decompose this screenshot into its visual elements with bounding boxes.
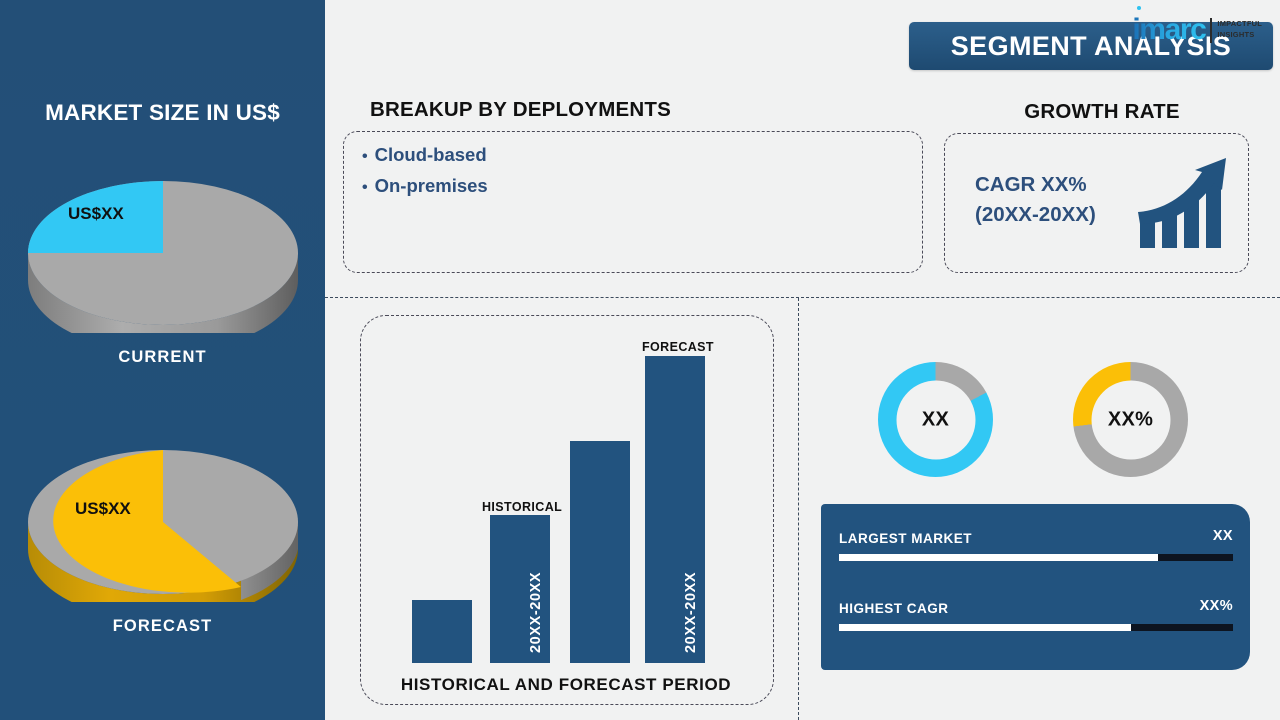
pie-slice-value (28, 181, 163, 253)
deployments-heading: BREAKUP BY DEPLOYMENTS (370, 98, 671, 122)
growth-arrow-bars-icon (1138, 156, 1234, 257)
logo-dot-icon (1137, 6, 1141, 10)
largest-market-donut: XX (878, 362, 993, 477)
header-band: SEGMENT ANALYSIS imarc IMPACTFUL INSIGHT… (325, 0, 1280, 92)
market-size-panel: MARKET SIZE IN US$ US$X (0, 0, 325, 720)
cagr-line-1: CAGR XX% (975, 170, 1096, 200)
market-size-title: MARKET SIZE IN US$ (0, 100, 325, 126)
cagr-line-2: (20XX-20XX) (975, 200, 1096, 230)
imarc-logo: imarc IMPACTFUL INSIGHTS (1132, 12, 1262, 48)
list-item: • On-premises (362, 171, 488, 202)
stat-row-largest-market: LARGEST MARKET XX (839, 530, 1233, 561)
bar-3 (570, 441, 630, 663)
highest-cagr-donut: XX% (1073, 362, 1188, 477)
current-pie-caption: CURRENT (0, 348, 325, 367)
list-item-label: On-premises (375, 171, 488, 200)
logo-tagline-line1: IMPACTFUL (1217, 19, 1262, 30)
stat-row-highest-cagr: HIGHEST CAGR XX% (839, 600, 1233, 631)
growth-rate-box: CAGR XX% (20XX-20XX) (944, 133, 1249, 273)
vertical-divider (798, 298, 799, 720)
logo-wordmark: imarc (1132, 15, 1208, 45)
bullet-icon: • (362, 173, 368, 202)
stat-progress-track (839, 624, 1233, 631)
logo-tagline: IMPACTFUL INSIGHTS (1217, 19, 1262, 41)
infographic-canvas: MARKET SIZE IN US$ US$X (0, 0, 1280, 720)
bar-2-inner-label: 20XX-20XX (528, 572, 544, 653)
current-pie-chart: US$XX CURRENT (0, 168, 325, 367)
list-item-label: Cloud-based (375, 140, 487, 169)
period-bar-chart: HISTORICAL 20XX-20XX FORECAST 20XX-20XX (360, 315, 772, 703)
list-item: • Cloud-based (362, 140, 488, 171)
bar-1 (412, 600, 472, 663)
stat-label: HIGHEST CAGR (839, 601, 949, 616)
growth-rate-heading: GROWTH RATE (944, 100, 1260, 124)
horizontal-divider (325, 297, 1280, 298)
donut-hole: XX (896, 380, 975, 459)
bullet-icon: • (362, 142, 368, 171)
donut-hole: XX% (1091, 380, 1170, 459)
cagr-text: CAGR XX% (20XX-20XX) (975, 170, 1096, 230)
donut-value: XX (922, 408, 949, 431)
forecast-pie-caption: FORECAST (0, 617, 325, 636)
stat-value: XX% (1200, 598, 1233, 614)
current-pie-svg (23, 168, 303, 333)
forecast-pie-chart: US$XX FORECAST (0, 437, 325, 636)
bar-2-annotation: HISTORICAL (482, 500, 562, 514)
period-chart-axis-label: HISTORICAL AND FORECAST PERIOD (360, 675, 772, 695)
bar-4-annotation: FORECAST (642, 340, 714, 354)
bar-4-inner-label: 20XX-20XX (683, 572, 699, 653)
stat-progress-fill (839, 554, 1158, 561)
key-stats-card: LARGEST MARKET XX HIGHEST CAGR XX% (821, 504, 1250, 670)
stat-progress-track (839, 554, 1233, 561)
forecast-pie-svg (23, 437, 303, 602)
stat-value: XX (1213, 528, 1233, 544)
deployments-box: • Cloud-based • On-premises (343, 131, 923, 273)
stat-progress-fill (839, 624, 1131, 631)
donut-value: XX% (1108, 408, 1153, 431)
logo-divider (1210, 18, 1212, 43)
deployments-list: • Cloud-based • On-premises (362, 140, 488, 202)
stat-label: LARGEST MARKET (839, 531, 972, 546)
logo-tagline-line2: INSIGHTS (1217, 30, 1262, 41)
